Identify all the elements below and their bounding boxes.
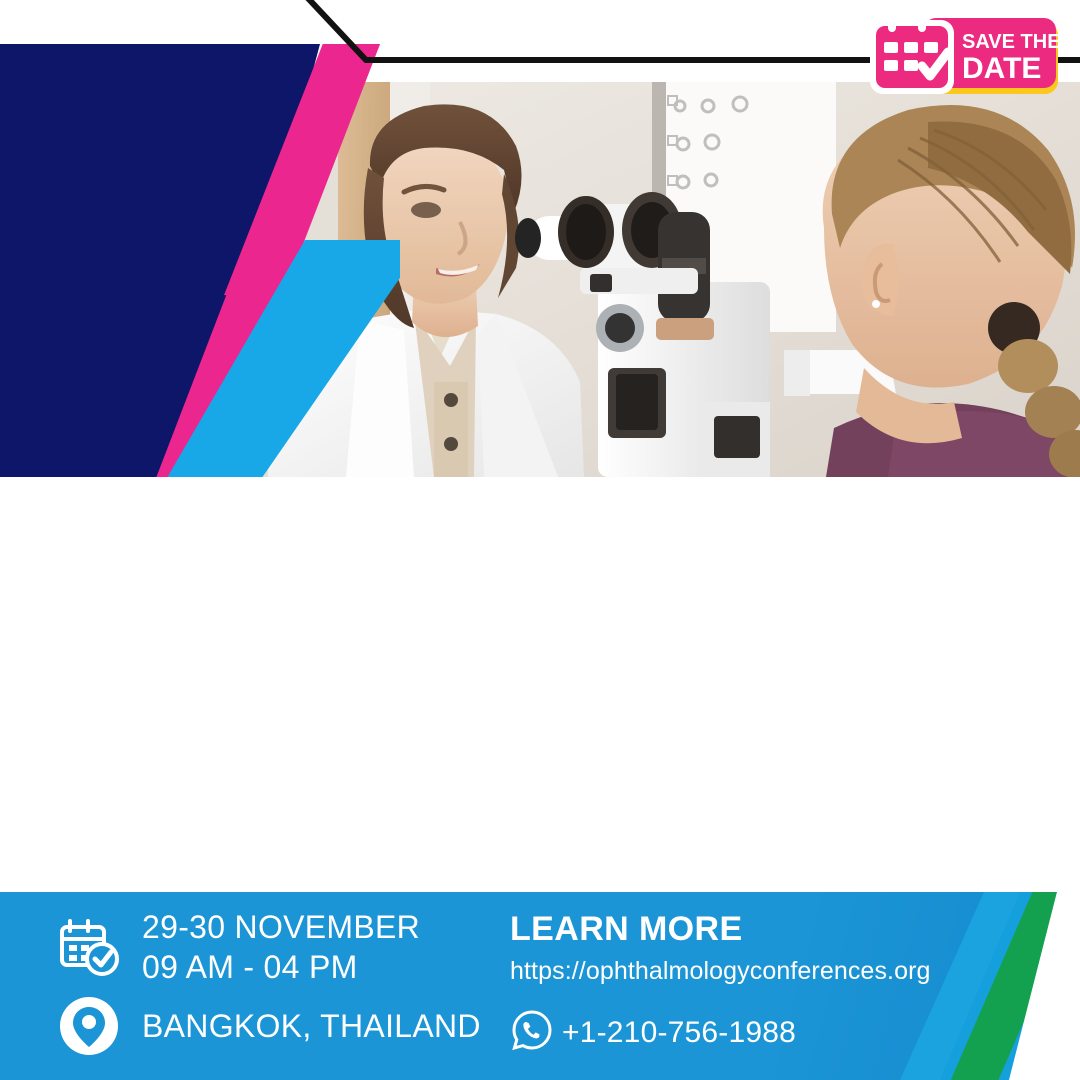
calendar-check-icon xyxy=(56,915,122,981)
footer-location-text: BANGKOK, THAILAND xyxy=(142,1007,481,1047)
phone-number[interactable]: +1-210-756-1988 xyxy=(562,1016,796,1050)
footer-date-line1: 29-30 NOVEMBER xyxy=(142,908,420,948)
badge-line2: DATE xyxy=(962,52,1041,85)
footer-date-line2: 09 AM - 04 PM xyxy=(142,948,420,988)
learn-more-heading: LEARN MORE xyxy=(510,910,931,949)
website-url[interactable]: https://ophthalmologyconferences.org xyxy=(510,957,931,986)
title-section: 2ndWORLD CONGRESS ON CLINICAL & EXPERIME… xyxy=(0,477,1080,892)
footer-bar: 29-30 NOVEMBER 09 AM - 04 PM BANGKOK, TH… xyxy=(0,892,1080,1080)
calendar-check-icon xyxy=(870,10,954,95)
save-the-date-badge: SAVE THE DATE xyxy=(862,8,1066,100)
badge-line1: SAVE THE xyxy=(962,31,1061,53)
footer-date-text: 29-30 NOVEMBER 09 AM - 04 PM xyxy=(142,908,420,987)
footer-location-row: BANGKOK, THAILAND xyxy=(56,993,481,1059)
location-pin-icon xyxy=(56,993,122,1059)
conference-poster: SAVE THE DATE 2ndWORLD CONGRESS ON CLINI… xyxy=(0,0,1080,1080)
footer-left-column: 29-30 NOVEMBER 09 AM - 04 PM BANGKOK, TH… xyxy=(56,908,481,1059)
footer-phone-row[interactable]: +1-210-756-1988 xyxy=(510,1008,931,1057)
whatsapp-icon xyxy=(510,1008,554,1057)
footer-location: BANGKOK, THAILAND xyxy=(142,1007,481,1047)
footer-date-row: 29-30 NOVEMBER 09 AM - 04 PM xyxy=(56,908,481,987)
footer-right-column: LEARN MORE https://ophthalmologyconferen… xyxy=(510,910,931,1057)
